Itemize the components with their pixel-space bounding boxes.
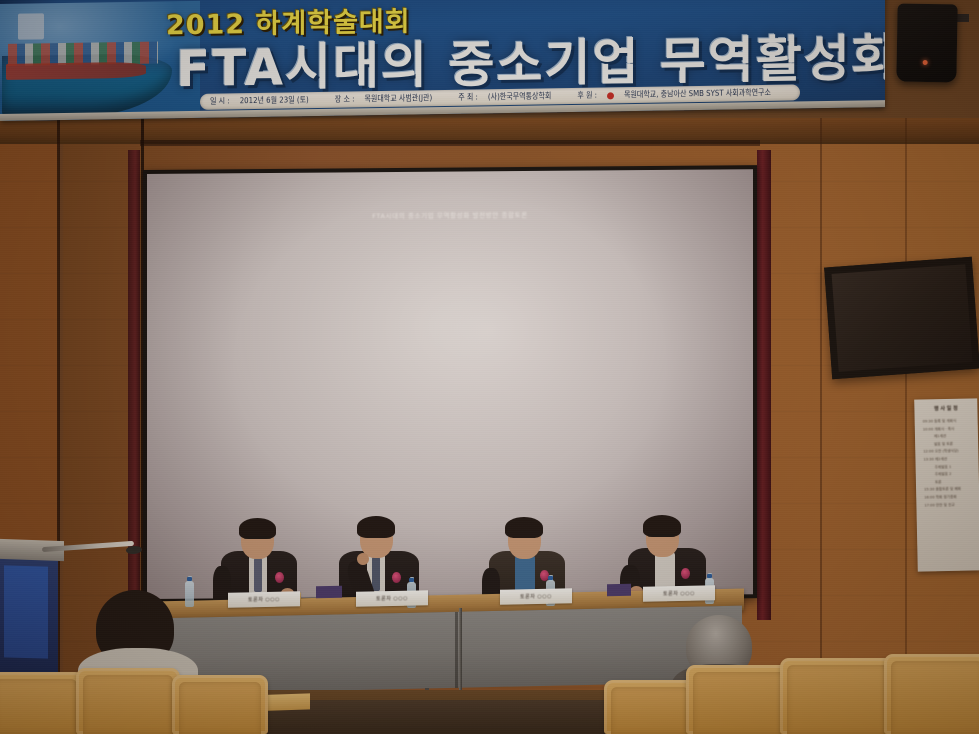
- wall-monitor[interactable]: [824, 257, 979, 380]
- speaker-power-led-icon: [923, 60, 928, 65]
- beam-shadow: [140, 140, 760, 146]
- placard-text: 토론자 ○○○: [248, 596, 280, 604]
- banner-sponsor-label: 후 원 :: [577, 90, 597, 101]
- event-banner: 2012 하계학술대회 FTA시대의 중소기업 무역활성화 일 시 : 2012…: [0, 0, 885, 121]
- poster-line: 15:30 종합토론 및 폐회: [924, 487, 974, 493]
- seat-back-inner: [179, 682, 261, 734]
- placard-text: 토론자 ○○○: [520, 593, 552, 601]
- poster-line: 17:00 만찬 및 친교: [924, 502, 974, 508]
- corsage-flower: [681, 568, 690, 579]
- poster-line: 주제발표 2: [935, 472, 974, 478]
- lectern-front-panel: [4, 565, 48, 658]
- auditorium-seat[interactable]: [172, 675, 268, 734]
- table-skirt-seam: [455, 612, 458, 688]
- auditorium-seat[interactable]: [604, 680, 696, 734]
- wall-seam: [820, 118, 822, 734]
- banner-date-label: 일 시 :: [210, 96, 230, 107]
- ship-bridge: [18, 13, 44, 39]
- seat-back-inner: [0, 679, 77, 734]
- poster-line: 10:00 개회사 · 축사: [923, 426, 973, 432]
- pa-speaker-icon: [896, 3, 957, 82]
- banner-date-value: 2012년 6월 23일 (토): [240, 95, 309, 107]
- seat-back-inner: [787, 665, 889, 734]
- glasses-icon: [244, 536, 271, 539]
- sponsor-logo-icon: [607, 92, 614, 99]
- poster-line: 주제발표 1: [935, 464, 974, 470]
- banner-place-value: 목원대학교 사범관(J관): [364, 93, 432, 105]
- glasses-icon: [648, 534, 675, 537]
- placard-text: 토론자 ○○○: [376, 595, 408, 603]
- bottle-cap: [548, 576, 553, 580]
- banner-host-label: 주 최 :: [458, 92, 478, 103]
- poster-line: 토론: [935, 479, 974, 485]
- corsage-flower: [275, 572, 284, 583]
- panelist-hair: [357, 516, 395, 538]
- name-placard: 토론자 ○○○: [356, 590, 428, 607]
- poster-line: 12:00 오찬 (학생식당): [923, 449, 973, 455]
- panelist-tie: [254, 558, 262, 592]
- stage-curtain-right: [757, 150, 771, 620]
- poster-line: 16:00 학회 정기총회: [924, 494, 974, 500]
- wall-seam: [905, 118, 907, 734]
- auditorium-seat[interactable]: [76, 668, 180, 734]
- auditorium-seat[interactable]: [780, 658, 896, 734]
- bottle-cap: [187, 577, 192, 581]
- placard-text: 토론자 ○○○: [663, 590, 695, 598]
- panelist-shirt: [515, 555, 535, 593]
- document-folder[interactable]: [316, 586, 342, 599]
- program-poster: 행 사 일 정 09:30 등록 및 개회식 10:00 개회사 · 축사 제1…: [914, 398, 979, 571]
- banner-host-value: (사)한국무역통상학회: [488, 91, 551, 103]
- bottle-cap: [707, 574, 712, 578]
- ship-waterline: [6, 62, 146, 80]
- panelist-tie: [372, 557, 380, 591]
- poster-line: 제1세션: [934, 434, 973, 440]
- panelist-hand: [357, 553, 369, 565]
- seat-back-inner: [693, 672, 789, 734]
- panelist-hair: [505, 517, 543, 538]
- name-placard: 토론자 ○○○: [500, 588, 572, 605]
- banner-place-label: 장 소 :: [335, 94, 355, 105]
- seat-back-inner: [83, 675, 173, 734]
- poster-line: 발표 및 토론: [934, 441, 973, 447]
- corsage-flower: [392, 572, 401, 583]
- auditorium-seat[interactable]: [884, 654, 979, 734]
- name-placard: 토론자 ○○○: [643, 585, 715, 602]
- seat-back-inner: [891, 661, 979, 734]
- document-folder[interactable]: [607, 584, 631, 597]
- monitor-screen: [832, 264, 973, 372]
- name-placard: 토론자 ○○○: [228, 591, 300, 608]
- poster-line: 13:30 제2세션: [923, 456, 973, 462]
- water-bottle[interactable]: [185, 581, 194, 607]
- conference-photo: 2012 하계학술대회 FTA시대의 중소기업 무역활성화 일 시 : 2012…: [0, 0, 979, 734]
- seat-back-inner: [611, 687, 689, 734]
- poster-line: 09:30 등록 및 개회식: [923, 418, 973, 424]
- auditorium-seat[interactable]: [0, 672, 84, 734]
- bottle-cap: [409, 578, 414, 582]
- poster-title: 행 사 일 정: [919, 404, 972, 412]
- banner-sponsor-value: 목원대학교, 충남아산 SMB SYST 사회과학연구소: [624, 87, 771, 100]
